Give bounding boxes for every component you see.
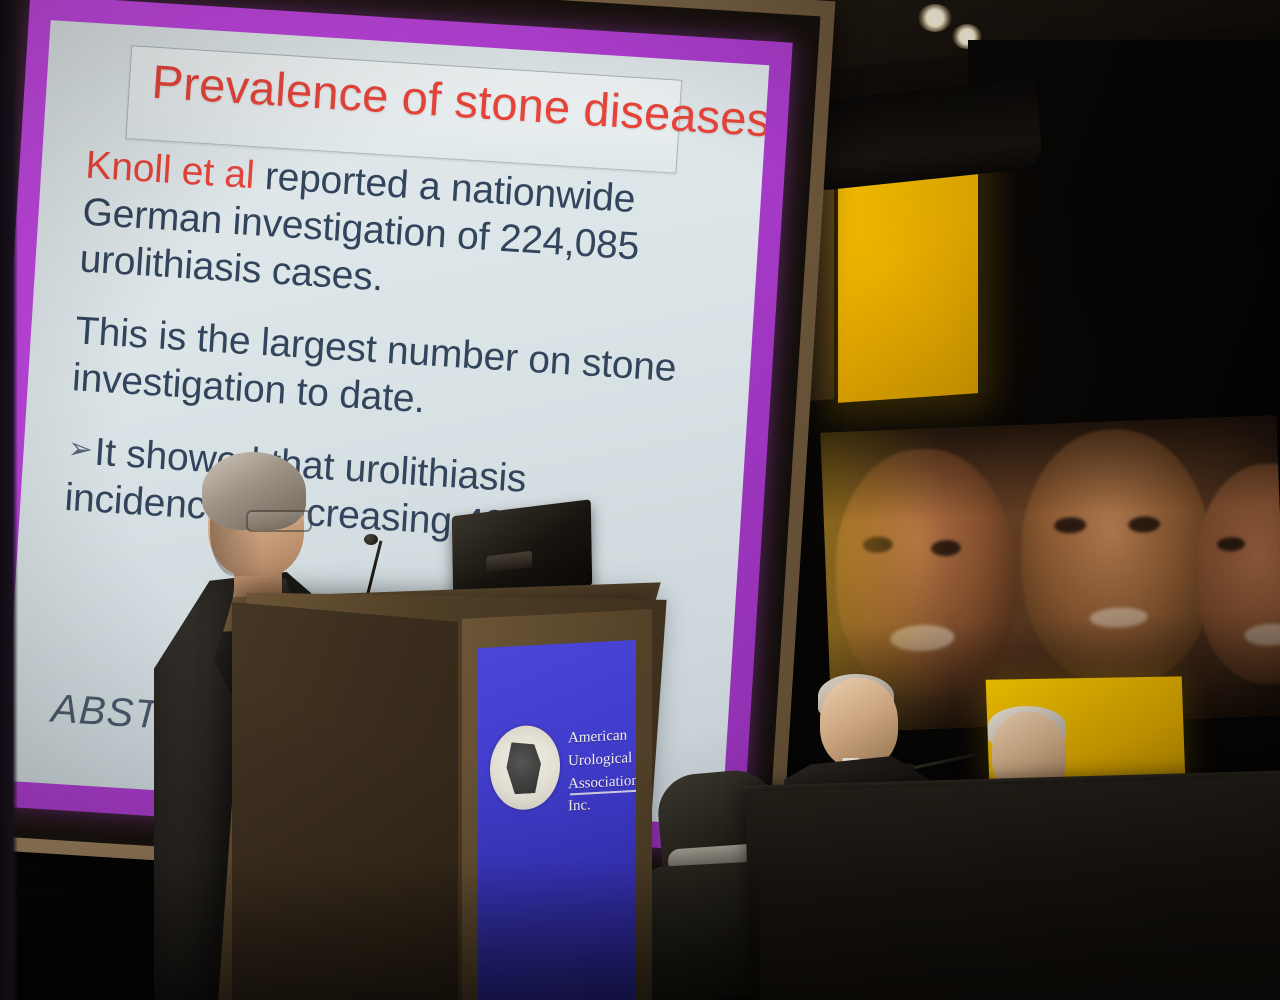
spotlight-1-icon [918,4,952,32]
aua-name-line-1: American [568,724,636,751]
aua-seal-icon [490,724,560,812]
microphone-icon [364,534,378,545]
citation-highlight: Knoll et al [84,144,255,198]
glasses-icon [246,510,312,532]
arrow-bullet-icon: ➢ [67,431,94,468]
aua-name-block: American Urological Association, Inc. [568,724,636,819]
panelist-left-head [820,678,898,768]
slide-paragraph-2: This is the largest number on stone inve… [71,309,702,442]
slide-title: Prevalence of stone diseases [150,54,769,148]
left-frame-edge [0,0,18,1000]
conference-photo-scene: Prevalence of stone diseases Knoll et al… [0,0,1280,1000]
foreground-shadow [0,860,760,1000]
aua-name-line-2: Urological [568,746,636,773]
panel-table [745,777,1280,1000]
